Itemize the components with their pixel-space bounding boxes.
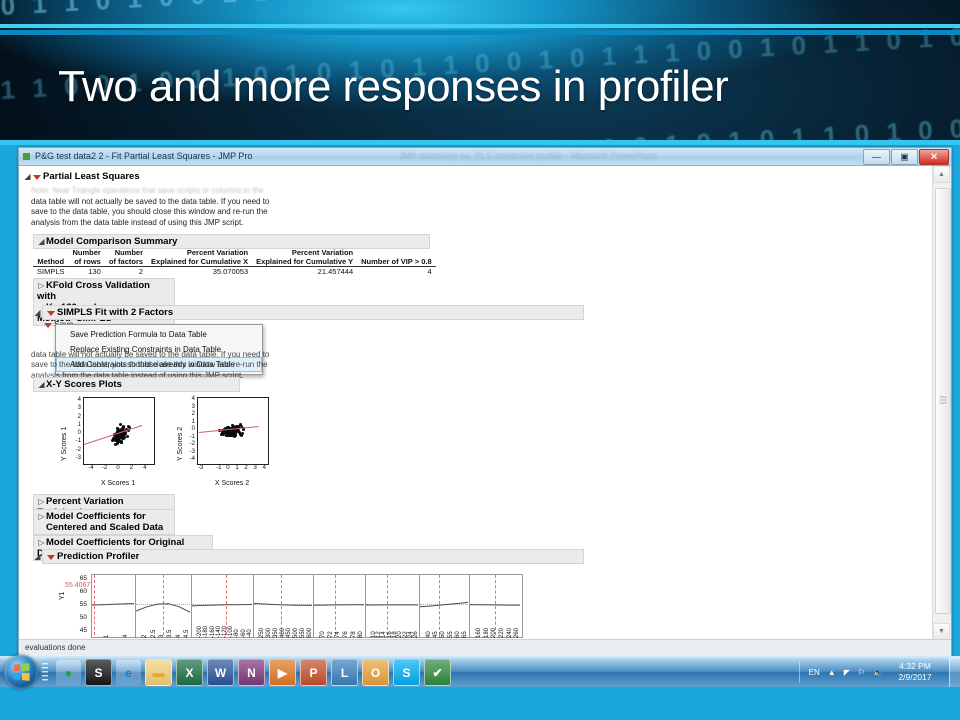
profiler-y-tick: 45 (71, 627, 87, 634)
profiler-x-tick: 4 (176, 635, 182, 638)
profiler-x-tick: -80 (234, 629, 240, 638)
section-title: Prediction Profiler (57, 551, 139, 562)
action-center-icon[interactable]: ⚐ (858, 668, 865, 677)
taskbar-item-word[interactable]: W (207, 659, 234, 686)
y-tick-label: 1 (71, 422, 81, 428)
x-tick-label: -4 (86, 465, 96, 471)
th-pvx: Explained for Cumulative X (147, 257, 252, 267)
table: Number Number Percent Variation Percent … (33, 248, 436, 276)
red-triangle-icon[interactable] (32, 173, 41, 181)
y-tick-label: 2 (71, 414, 81, 420)
th-pvy-top: Percent Variation (252, 248, 357, 257)
taskbar-item-excel[interactable]: X (176, 659, 203, 686)
profiler-y-tick: 55 (71, 601, 87, 608)
profiler-y-tick: 60 (71, 588, 87, 595)
section-bar-simpls[interactable]: SIMPLS Fit with 2 Factors (42, 305, 584, 320)
banner-stripe-bottom (0, 140, 960, 145)
profiler-x-tick: 200 (491, 628, 497, 638)
window-title: P&G test data2 2 - Fit Partial Least Squ… (35, 151, 252, 161)
profiler-x-tick: 350 (273, 628, 279, 638)
maximize-icon: ▣ (900, 153, 909, 162)
th-rows-top: Number (69, 248, 105, 257)
profiler-x-tick: -180 (203, 626, 209, 638)
taskbar-item-chrome[interactable]: ● (56, 660, 81, 685)
profiler-x-tick: -160 (210, 626, 216, 638)
scatter-point (118, 435, 121, 438)
outline-disclosure-closed[interactable]: ▷ (37, 511, 46, 522)
profiler-x-tick: -40 (247, 629, 253, 638)
red-triangle-icon[interactable] (46, 553, 55, 561)
table-header-row-bottom: Method of rows of factors Explained for … (33, 257, 436, 267)
scores-plots-container: Y Scores 1 X Scores 1 43210-1-2-3 -4-202… (19, 388, 319, 498)
clock[interactable]: 4:32 PM 2/9/2017 (887, 661, 943, 683)
profiler-curve (92, 575, 134, 635)
windows-logo-icon (14, 663, 30, 681)
profiler-response-label: Y1 (59, 591, 66, 600)
outline-disclosure-open[interactable]: ◢ (33, 552, 42, 561)
maximize-button[interactable]: ▣ (891, 149, 918, 165)
profiler-x-tick: 250 (259, 628, 265, 638)
profiler-curve (136, 575, 190, 635)
outline-title: Partial Least Squares (43, 171, 140, 182)
profiler-x-tick: 80 (358, 631, 364, 638)
profiler-curve (420, 575, 468, 635)
clock-time: 4:32 PM (887, 661, 943, 672)
scatter-point (235, 430, 238, 433)
y-tick-label: 0 (185, 426, 195, 432)
cell-factors: 2 (105, 267, 147, 277)
volume-icon[interactable]: 🔈 (873, 668, 883, 677)
cell-method: SIMPLS (33, 267, 69, 277)
profiler-x-tick: 72 (328, 631, 334, 638)
cell-vip: 4 (357, 267, 436, 277)
outline-disclosure-open[interactable]: ◢ (23, 172, 32, 181)
profiler-x-tick: 300 (266, 628, 272, 638)
taskbar-item-internet-explorer[interactable]: e (116, 660, 141, 685)
th-factors-top: Number (105, 248, 147, 257)
scatter-point (228, 432, 231, 435)
outline-disclosure-closed[interactable]: ▷ (37, 538, 46, 547)
profiler-x-tick: 78 (351, 631, 357, 638)
y-tick-label: 3 (71, 405, 81, 411)
slide-banner: 0 1 1 0 1 0 0 1 1 1 0 1 0 0 1 0 1 1 0 1 … (0, 0, 960, 145)
profiler-curve (254, 575, 312, 635)
profiler-x-tick: 55 (448, 631, 454, 638)
y-tick-label: -4 (185, 456, 195, 462)
prediction-profiler[interactable]: Y1 55.40677 6560555045141Week22.533.544.… (19, 564, 619, 640)
scatter-point (120, 441, 123, 444)
profiler-x-tick: 220 (499, 628, 505, 638)
section-title-line1: Model Coefficients for (46, 511, 146, 522)
minimize-button[interactable]: — (863, 149, 890, 165)
section-bar-profiler[interactable]: Prediction Profiler (42, 549, 584, 564)
intro-paragraph: Note: Near Triangle operations that save… (31, 186, 331, 228)
outline-model-comparison-summary[interactable]: ◢Model Comparison Summary (33, 234, 430, 249)
scatter-point (116, 427, 119, 430)
cell-rows: 130 (69, 267, 105, 277)
profiler-x-tick: 3.5 (167, 630, 173, 638)
profiler-curve (314, 575, 364, 635)
banner-stripe-top (0, 24, 960, 28)
window-controls: — ▣ ✕ (863, 149, 949, 165)
profiler-x-tick: 4.5 (184, 630, 190, 638)
profiler-x-tick: 65 (462, 631, 468, 638)
profiler-x-tick: 40 (426, 631, 432, 638)
profiler-x-tick: 450 (286, 628, 292, 638)
scores-plot-2-ylabel: Y Scores 2 (177, 427, 184, 461)
show-desktop-button[interactable] (949, 657, 960, 687)
taskbar-grip-icon (42, 663, 48, 681)
y-tick-label: 2 (185, 411, 195, 417)
outline-disclosure-closed[interactable]: ▷ (37, 497, 46, 506)
y-tick-label: 1 (185, 419, 195, 425)
presentation-slide: 0 1 1 0 1 0 0 1 1 1 0 1 0 0 1 0 1 1 0 1 … (0, 0, 960, 720)
x-tick-label: -2 (100, 465, 110, 471)
section-title: Model Comparison Summary (46, 236, 177, 247)
y-tick-label: -2 (71, 447, 81, 453)
jmp-app-icon (23, 153, 30, 160)
taskbar-item-powerpoint[interactable]: P (300, 659, 327, 686)
outline-model-coefficients-centered[interactable]: ▷Model Coefficients for Centered and Sca… (33, 509, 175, 535)
scroll-down-icon[interactable]: ▼ (933, 623, 950, 640)
y-tick-label: 4 (71, 397, 81, 403)
y-tick-label: 0 (71, 430, 81, 436)
th-pvx-top: Percent Variation (147, 248, 252, 257)
profiler-curve (470, 575, 520, 635)
background-window-title: JMP discovery eu_PLS constraint profiler… (399, 151, 656, 161)
th-pvy: Explained for Cumulative Y (252, 257, 357, 267)
profiler-x-tick: 45 (433, 631, 439, 638)
scatter-point (225, 434, 228, 437)
table-header-row-top: Number Number Percent Variation Percent … (33, 248, 436, 257)
th-factors: of factors (105, 257, 147, 267)
profiler-x-tick: 60 (455, 631, 461, 638)
close-button[interactable]: ✕ (919, 149, 949, 165)
minimize-icon: — (872, 153, 881, 162)
taskbar-item-media-player[interactable]: ▶ (269, 659, 296, 686)
th-method: Method (33, 257, 69, 267)
profiler-x-tick: 550 (300, 628, 306, 638)
show-hidden-icons-icon[interactable]: ▲ (828, 668, 836, 677)
profiler-x-tick: 2 (142, 635, 148, 638)
profiler-x-tick: 600 (307, 628, 313, 638)
kfold-title-line1: KFold Cross Validation with (37, 280, 150, 302)
taskbar-item-skype[interactable]: S (393, 659, 420, 686)
intro-line-2: save to the data table, you should close… (31, 207, 268, 216)
intro-line-3: analysis from the data table instead of … (31, 218, 243, 227)
x-tick-label: 4 (259, 465, 269, 471)
x-tick-label: 4 (140, 465, 150, 471)
windows-taskbar: ●Se▬XWN▶PLOS✔ EN ▲ ◤ ⚐ 🔈 4:32 PM 2/9/201… (0, 656, 960, 687)
status-text: evaluations done (25, 643, 86, 652)
system-tray: EN ▲ ◤ ⚐ 🔈 4:32 PM 2/9/2017 (794, 657, 960, 687)
profiler-x-tick: 76 (343, 631, 349, 638)
profiler-x-tick: 2.5 (151, 630, 157, 638)
profiler-x-tick: 160 (476, 628, 482, 638)
status-bar: evaluations done (19, 639, 951, 656)
section-bar-model-comparison[interactable]: ◢Model Comparison Summary (33, 234, 430, 249)
tray-divider (799, 661, 800, 683)
table-row: SIMPLS 130 2 35.070053 21.457444 4 (33, 267, 436, 277)
x-tick-label: 0 (113, 465, 123, 471)
th-vip-top (357, 248, 436, 257)
intro-faded-line: Note: Near Triangle operations that save… (31, 186, 331, 197)
window-titlebar[interactable]: P&G test data2 2 - Fit Partial Least Squ… (19, 148, 951, 166)
profiler-x-tick: 400 (280, 628, 286, 638)
y-tick-label: -3 (185, 449, 195, 455)
banner-stripe-top-dark (0, 30, 960, 35)
profiler-x-tick: 4 (123, 635, 129, 638)
y-tick-label: -1 (71, 438, 81, 444)
network-icon[interactable]: ◤ (844, 668, 850, 677)
x-tick-label: -3 (196, 465, 206, 471)
red-triangle-icon[interactable] (46, 309, 55, 317)
profiler-x-tick: 50 (440, 631, 446, 638)
taskbar-item-onenote[interactable]: N (238, 659, 265, 686)
y-tick-label: -3 (71, 455, 81, 461)
outline-prediction-profiler[interactable]: ◢ Prediction Profiler (33, 549, 584, 564)
taskbar-item-snagit[interactable]: S (85, 659, 112, 686)
taskbar-item-windows-explorer[interactable]: ▬ (145, 659, 172, 686)
profiler-x-tick: 500 (293, 628, 299, 638)
profiler-x-tick: 3 (159, 635, 165, 638)
outline-partial-least-squares[interactable]: ◢Partial Least Squares (23, 171, 140, 182)
repeat-line-1: data table will not actually be saved to… (31, 350, 269, 359)
taskbar-item-lync[interactable]: L (331, 659, 358, 686)
profiler-x-tick: -60 (241, 629, 247, 638)
vertical-scrollbar[interactable]: ▲ ▼ (932, 166, 951, 640)
outline-disclosure-open[interactable]: ◢ (37, 237, 46, 246)
taskbar-item-jmp[interactable]: ✔ (424, 659, 451, 686)
cell-pvy: 21.457444 (252, 267, 357, 277)
taskbar-icons: ●Se▬XWN▶PLOS✔ (56, 659, 451, 686)
th-vip: Number of VIP > 0.8 (357, 257, 436, 267)
section-title: SIMPLS Fit with 2 Factors (57, 307, 173, 318)
outline-disclosure-closed[interactable]: ▷ (37, 280, 46, 291)
red-triangle-icon[interactable] (43, 321, 52, 329)
profiler-y-tick: 65 (71, 575, 87, 582)
jmp-window: P&G test data2 2 - Fit Partial Least Squ… (18, 147, 952, 657)
cell-pvx: 35.070053 (147, 267, 252, 277)
profiler-x-tick: 260 (514, 628, 520, 638)
language-indicator[interactable]: EN (809, 668, 820, 677)
section-title-line2: Centered and Scaled Data (46, 522, 163, 533)
model-comparison-table: Number Number Percent Variation Percent … (33, 248, 436, 276)
section-bar-mcc[interactable]: ▷Model Coefficients for Centered and Sca… (33, 509, 175, 535)
scores-plot-2-xlabel: X Scores 2 (197, 480, 267, 487)
outline-disclosure-open[interactable]: ◢ (33, 308, 42, 317)
y-tick-label: -1 (185, 434, 195, 440)
profiler-x-tick: 70 (320, 631, 326, 638)
clock-date: 2/9/2017 (887, 672, 943, 683)
intro-line-1: data table will not actually be saved to… (31, 197, 269, 206)
report-canvas: ◢Partial Least Squares Note: Near Triang… (19, 166, 932, 640)
intro-paragraph-repeat: x data table will not actually be saved … (31, 339, 331, 381)
page-title: Two and more responses in profiler (58, 58, 898, 116)
scroll-up-icon[interactable]: ▲ (933, 166, 950, 183)
scores-plot-1-xlabel: X Scores 1 (83, 480, 153, 487)
th-method-top (33, 248, 69, 257)
profiler-x-tick: 74 (335, 631, 341, 638)
th-rows: of rows (69, 257, 105, 267)
taskbar-item-outlook[interactable]: O (362, 659, 389, 686)
x-tick-label: 2 (126, 465, 136, 471)
close-icon: ✕ (930, 153, 938, 162)
profiler-y-tick: 50 (71, 614, 87, 621)
profiler-x-tick: 1 (104, 635, 110, 638)
profiler-curve (366, 575, 418, 635)
profiler-x-tick: 180 (484, 628, 490, 638)
y-tick-label: -2 (185, 441, 195, 447)
start-button[interactable] (4, 655, 38, 689)
repeat-line-2: save to the data table, you should close… (31, 360, 268, 369)
y-tick-label: 4 (185, 396, 195, 402)
scatter-point (126, 435, 129, 438)
profiler-x-tick: -140 (216, 626, 222, 638)
scrollbar-thumb[interactable] (935, 188, 951, 614)
y-tick-label: 3 (185, 404, 195, 410)
scrollbar-grip-icon (940, 397, 947, 406)
profiler-x-tick: 240 (507, 628, 513, 638)
report-client-area: ◢Partial Least Squares Note: Near Triang… (19, 166, 951, 640)
scores-plot-1-ylabel: Y Scores 1 (61, 427, 68, 461)
outline-simpls-fit[interactable]: ◢ SIMPLS Fit with 2 Factors (33, 305, 584, 320)
